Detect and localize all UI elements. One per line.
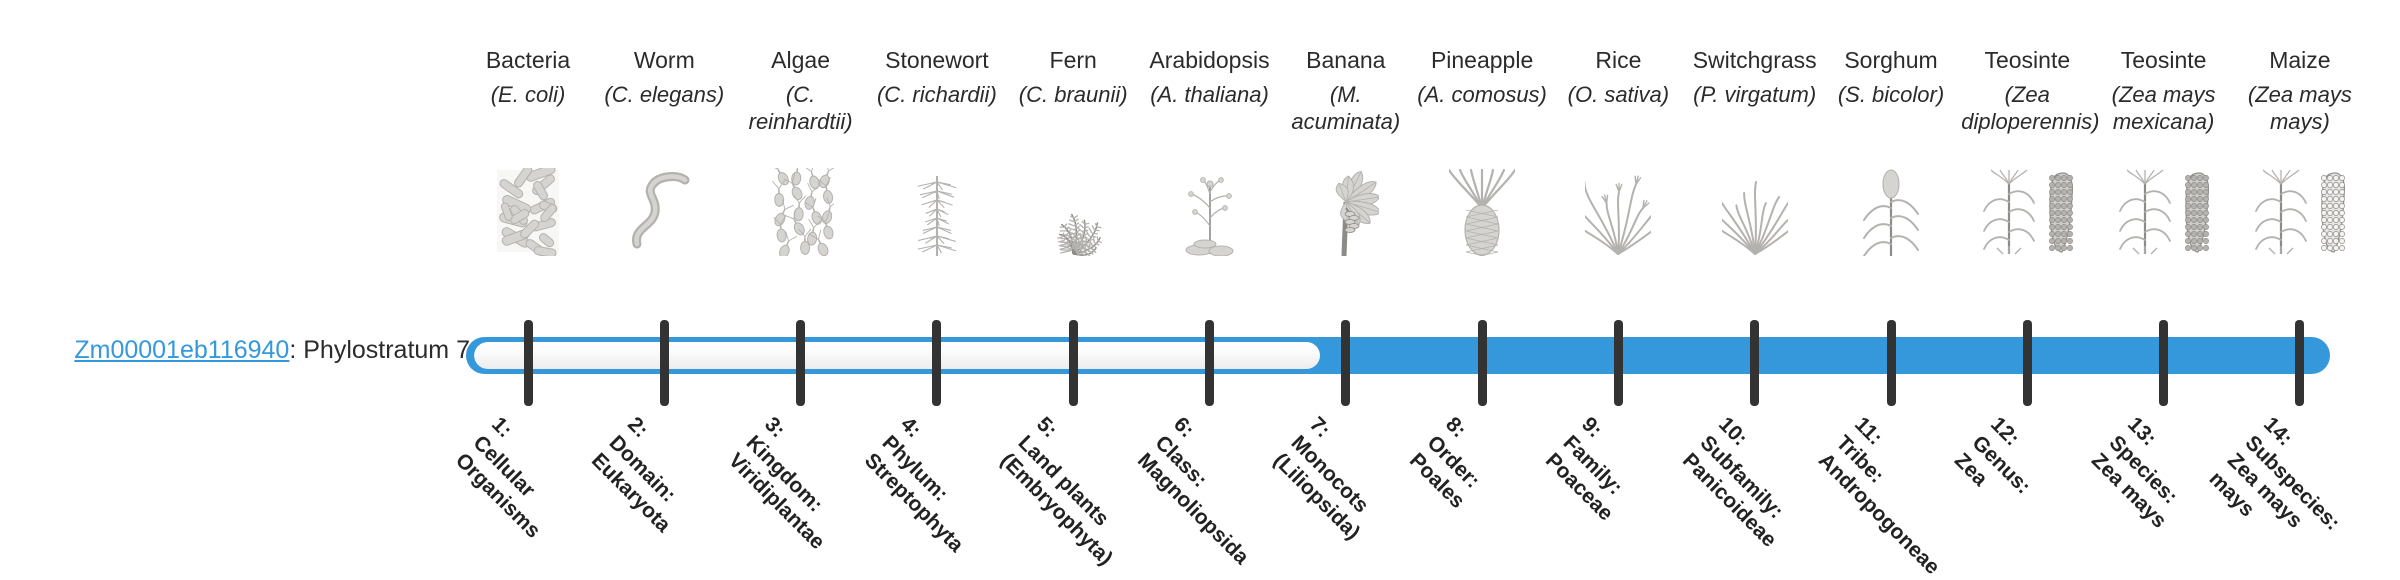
species-common-name: Pineapple	[1414, 46, 1550, 75]
species-common-name: Stonewort	[869, 46, 1005, 75]
phylostratigraphy-figure: Zm00001eb116940: Phylostratum 7 Bacteria…	[0, 0, 2400, 580]
species-latin-name: (M. acuminata)	[1278, 81, 1414, 136]
stratum-label-7: 7: Monocots (Liliopsida)	[1267, 412, 1401, 546]
species-column-teosinte-12: Teosinte(Zea mays mexicana)	[2096, 46, 2232, 136]
teosinte-icon	[1959, 164, 2095, 256]
stratum-label-4: 4: Phylum: Streptophyta	[859, 412, 1005, 558]
species-latin-name: (E. coli)	[460, 81, 596, 109]
stratum-label-text: 13: Species: Zea mays	[2086, 413, 2181, 533]
species-common-name: Banana	[1278, 46, 1414, 75]
worm-icon	[596, 164, 732, 256]
species-column-sorghum-10: Sorghum(S. bicolor)	[1823, 46, 1959, 108]
species-common-name: Algae	[733, 46, 869, 75]
species-common-name: Bacteria	[460, 46, 596, 75]
species-common-name: Rice	[1550, 46, 1686, 75]
maize-icon	[2232, 164, 2368, 256]
rice-icon	[1550, 164, 1686, 256]
tick-stratum-12	[2023, 320, 2032, 406]
tick-stratum-7	[1341, 320, 1350, 406]
tick-stratum-8	[1478, 320, 1487, 406]
stratum-label-text: 8: Order: Poales	[1405, 413, 1485, 513]
species-column-worm-1: Worm(C. elegans)	[596, 46, 732, 108]
stonewort-icon	[869, 164, 1005, 256]
species-common-name: Maize	[2232, 46, 2368, 75]
sorghum-icon	[1823, 164, 1959, 256]
species-column-maize-13: Maize(Zea mays mays)	[2232, 46, 2368, 136]
gene-phylostratum-label: Zm00001eb116940: Phylostratum 7	[40, 335, 470, 365]
species-column-switchgrass-9: Switchgrass(P. virgatum)	[1687, 46, 1823, 108]
species-column-pineapple-7: Pineapple(A. comosus)	[1414, 46, 1550, 108]
stratum-label-text: 11: Tribe: Andropogoneae	[1814, 413, 1944, 579]
tick-stratum-4	[932, 320, 941, 406]
tick-stratum-3	[796, 320, 805, 406]
algae-icon	[733, 164, 869, 256]
tick-stratum-11	[1887, 320, 1896, 406]
species-common-name: Worm	[596, 46, 732, 75]
stratum-label-text: 12: Genus: Zea	[1950, 413, 2036, 499]
stratum-label-text: 14: Subspecies: Zea mays mays	[2205, 413, 2345, 535]
stratum-label-1: 1: Cellular Organisms	[450, 412, 582, 544]
species-latin-name: (P. virgatum)	[1687, 81, 1823, 109]
species-common-name: Fern	[1005, 46, 1141, 75]
stratum-label-2: 2: Domain: Eukaryota	[586, 412, 712, 538]
teosinte-icon	[2096, 164, 2232, 256]
species-latin-name: (C. richardii)	[869, 81, 1005, 109]
species-column-teosinte-11: Teosinte(Zea diploperennis)	[1959, 46, 2095, 136]
phylostratum-timeline-bar	[466, 337, 2330, 374]
species-latin-name: (A. comosus)	[1414, 81, 1550, 109]
species-column-algae-2: Algae(C. reinhardtii)	[733, 46, 869, 136]
species-latin-name: (C. braunii)	[1005, 81, 1141, 109]
stratum-label-13: 13: Species: Zea mays	[2085, 412, 2207, 534]
species-common-name: Teosinte	[2096, 46, 2232, 75]
bacteria-icon	[460, 164, 596, 256]
species-common-name: Teosinte	[1959, 46, 2095, 75]
tick-stratum-1	[524, 320, 533, 406]
species-latin-name: (Zea mays mays)	[2232, 81, 2368, 136]
stratum-label-text: 9: Family: Poaceae	[1541, 413, 1627, 526]
stratum-label-5: 5: Land plants (Embryophyta)	[995, 412, 1154, 571]
gene-label-separator: :	[289, 336, 303, 364]
stratum-label-8: 8: Order: Poales	[1404, 412, 1506, 514]
stratum-label-11: 11: Tribe: Andropogoneae	[1813, 412, 1981, 580]
stratum-label-text: 10: Subfamily: Panicoideae	[1677, 413, 1787, 552]
stratum-label-9: 9: Family: Poaceae	[1540, 412, 1655, 527]
phylostratum-text: Phylostratum 7	[303, 336, 470, 364]
species-latin-name: (O. sativa)	[1550, 81, 1686, 109]
species-common-name: Arabidopsis	[1142, 46, 1278, 75]
species-column-bacteria-0: Bacteria(E. coli)	[460, 46, 596, 108]
stratum-label-text: 2: Domain: Eukaryota	[587, 413, 681, 537]
switchgrass-icon	[1687, 164, 1823, 256]
stratum-label-6: 6: Class: Magnoliopsida	[1131, 412, 1289, 570]
stratum-label-text: 4: Phylum: Streptophyta	[860, 413, 968, 557]
banana-icon	[1278, 164, 1414, 256]
species-column-banana-6: Banana(M. acuminata)	[1278, 46, 1414, 136]
stratum-label-text: 1: Cellular Organisms	[451, 413, 545, 543]
stratum-label-10: 10: Subfamily: Panicoideae	[1676, 412, 1817, 553]
species-common-name: Switchgrass	[1687, 46, 1823, 75]
tick-stratum-10	[1750, 320, 1759, 406]
stratum-label-14: 14: Subspecies: Zea mays mays	[2203, 412, 2363, 572]
stratum-label-text: 5: Land plants (Embryophyta)	[996, 413, 1117, 570]
species-latin-name: (Zea diploperennis)	[1959, 81, 2095, 136]
stratum-label-text: 6: Class: Magnoliopsida	[1132, 413, 1252, 569]
timeline-track	[474, 342, 2322, 369]
species-latin-name: (Zea mays mexicana)	[2096, 81, 2232, 136]
stratum-label-text: 3: Kingdom: Viridiplantae	[723, 413, 828, 554]
stratum-label-12: 12: Genus: Zea	[1949, 412, 2054, 517]
gene-id-link[interactable]: Zm00001eb116940	[74, 336, 289, 364]
tick-stratum-9	[1614, 320, 1623, 406]
species-column-arabidopsis-5: Arabidopsis(A. thaliana)	[1142, 46, 1278, 108]
stratum-label-3: 3: Kingdom: Viridiplantae	[722, 412, 865, 555]
fern-icon	[1005, 164, 1141, 256]
species-latin-name: (S. bicolor)	[1823, 81, 1959, 109]
tick-stratum-13	[2159, 320, 2168, 406]
species-latin-name: (C. elegans)	[596, 81, 732, 109]
tick-stratum-5	[1069, 320, 1078, 406]
tick-stratum-2	[660, 320, 669, 406]
species-column-stonewort-3: Stonewort(C. richardii)	[869, 46, 1005, 108]
tick-stratum-6	[1205, 320, 1214, 406]
species-column-rice-8: Rice(O. sativa)	[1550, 46, 1686, 108]
tick-stratum-14	[2295, 320, 2304, 406]
timeline-unfilled-segment	[474, 342, 1320, 369]
species-common-name: Sorghum	[1823, 46, 1959, 75]
species-column-fern-4: Fern(C. braunii)	[1005, 46, 1141, 108]
species-latin-name: (A. thaliana)	[1142, 81, 1278, 109]
arabidopsis-icon	[1142, 164, 1278, 256]
pineapple-icon	[1414, 164, 1550, 256]
species-header-row: Bacteria(E. coli)Worm(C. elegans)Algae(C…	[0, 0, 2400, 320]
species-latin-name: (C. reinhardtii)	[733, 81, 869, 136]
stratum-label-text: 7: Monocots (Liliopsida)	[1269, 413, 1373, 545]
